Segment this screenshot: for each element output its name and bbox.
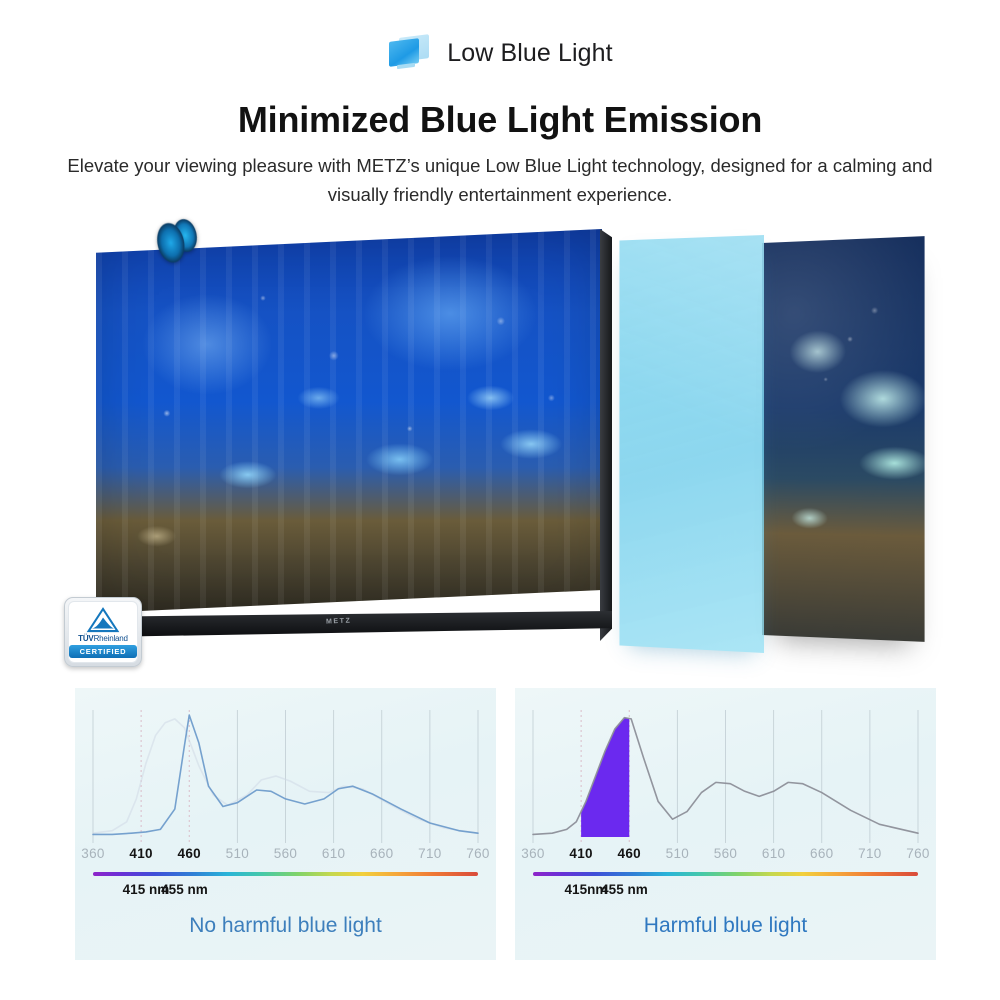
x-tick-label: 410 (569, 846, 592, 861)
x-tick-label: 760 (906, 846, 929, 861)
x-tick-label: 360 (521, 846, 544, 861)
x-tick-label: 560 (714, 846, 737, 861)
x-tick-label: 510 (666, 846, 689, 861)
tuv-badge-status: CERTIFIED (69, 645, 137, 658)
page-title: Minimized Blue Light Emission (0, 99, 1000, 141)
blue-light-filter-sheet (619, 235, 764, 653)
tv-bottom-bezel (100, 611, 612, 637)
spectrum-plot-left (93, 710, 478, 843)
tv-screen-content (96, 229, 602, 613)
feature-badge-label: Low Blue Light (447, 39, 612, 68)
feature-badge: Low Blue Light (0, 36, 1000, 70)
x-axis-ticks-left: 360410460510560610660710760 (93, 846, 478, 866)
x-tick-label: 710 (858, 846, 881, 861)
wavelength-marker-label: 455 nm (601, 882, 648, 897)
tv-right-edge (600, 229, 612, 641)
tuv-rheinland-certified-badge: TÜVRheinland CERTIFIED (64, 597, 142, 667)
hero-illustration: METZ TÜVRheinland CERTIFIED (0, 225, 1000, 680)
spectrum-comparison: 360410460510560610660710760 No harmful b… (0, 688, 1000, 963)
chart-card-harmful-blue-light: 360410460510560610660710760 Harmful blue… (515, 688, 936, 960)
tv-brand-mark: METZ (326, 617, 352, 625)
x-tick-label: 660 (370, 846, 393, 861)
x-axis-ticks-right: 360410460510560610660710760 (533, 846, 918, 866)
x-tick-label: 460 (618, 846, 641, 861)
wavelength-marker-label: 455 nm (161, 882, 208, 897)
page-subtitle: Elevate your viewing pleasure with METZ’… (60, 152, 940, 209)
metz-television: METZ (96, 229, 612, 649)
x-tick-label: 460 (178, 846, 201, 861)
tuv-triangle-logo (86, 607, 120, 633)
x-tick-label: 660 (810, 846, 833, 861)
x-tick-label: 410 (129, 846, 152, 861)
x-tick-label: 510 (226, 846, 249, 861)
x-tick-label: 610 (762, 846, 785, 861)
chart-card-no-harmful-blue-light: 360410460510560610660710760 No harmful b… (75, 688, 496, 960)
chart-verdict-right: Harmful blue light (515, 914, 936, 938)
x-tick-label: 710 (418, 846, 441, 861)
visible-spectrum-bar-left (93, 872, 478, 876)
tuv-badge-name: TÜVRheinland (78, 634, 128, 643)
spectrum-plot-right (533, 710, 918, 843)
unfiltered-display-panel (762, 236, 925, 642)
x-tick-label: 610 (322, 846, 345, 861)
visible-spectrum-bar-right (533, 872, 918, 876)
low-blue-light-infographic: Low Blue Light Minimized Blue Light Emis… (0, 0, 1000, 1000)
tv-screen-icon (387, 36, 431, 70)
x-tick-label: 760 (466, 846, 489, 861)
chart-verdict-left: No harmful blue light (75, 914, 496, 938)
x-tick-label: 360 (81, 846, 104, 861)
x-tick-label: 560 (274, 846, 297, 861)
